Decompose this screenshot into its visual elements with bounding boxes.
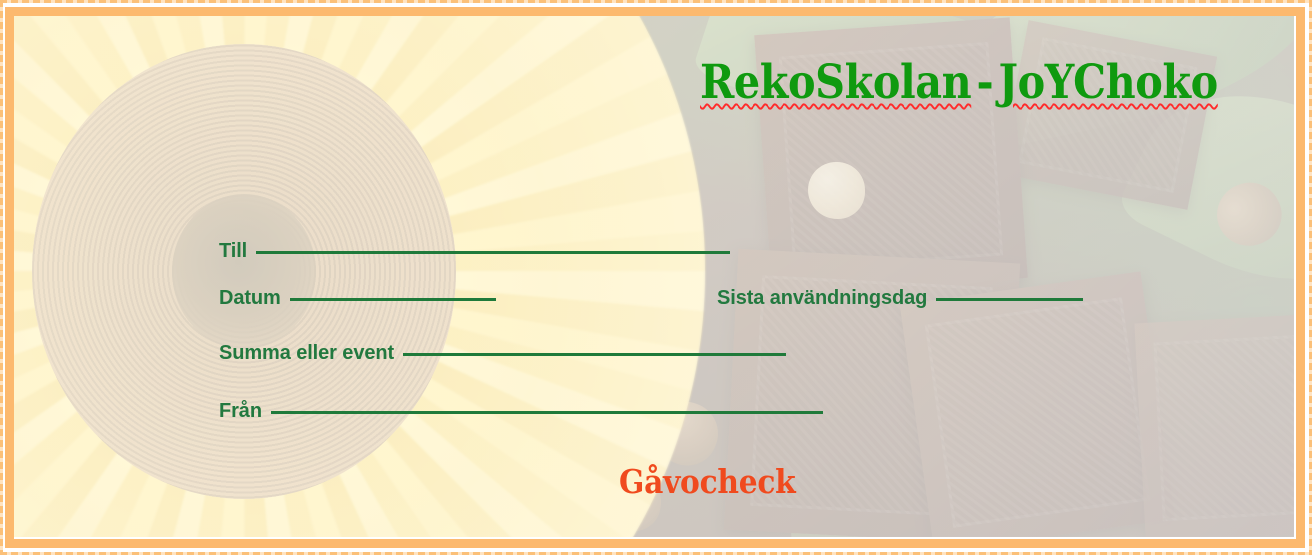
voucher-content: RekoSkolan-JoYChoko Till Datum Sista anv…	[0, 0, 1312, 555]
brand-name-first: RekoSkolan	[700, 55, 971, 110]
brand-name-second: JoYChoko	[999, 55, 1218, 110]
field-rule-till[interactable]	[256, 251, 730, 254]
field-label-summa-eller-event: Summa eller event	[219, 342, 394, 365]
field-label-till: Till	[219, 240, 247, 263]
field-rule-fran[interactable]	[271, 411, 823, 414]
field-label-fran: Från	[219, 400, 262, 423]
field-row-sista-anvandningsdag[interactable]: Sista användningsdag	[717, 287, 1083, 310]
field-row-summa-eller-event[interactable]: Summa eller event	[219, 342, 786, 365]
gift-voucher: RekoSkolan-JoYChoko Till Datum Sista anv…	[0, 0, 1312, 555]
field-row-fran[interactable]: Från	[219, 400, 823, 423]
field-row-till[interactable]: Till	[219, 240, 730, 263]
field-rule-sista-anvandningsdag[interactable]	[936, 298, 1083, 301]
field-rule-summa-eller-event[interactable]	[403, 353, 786, 356]
field-rule-datum[interactable]	[290, 298, 496, 301]
voucher-stamp-gavocheck: Gåvocheck	[619, 462, 795, 501]
brand-separator: -	[971, 55, 998, 110]
voucher-title: RekoSkolan-JoYChoko	[700, 58, 1218, 107]
field-label-sista-anvandningsdag: Sista användningsdag	[717, 287, 927, 310]
field-label-datum: Datum	[219, 287, 281, 310]
field-row-datum[interactable]: Datum	[219, 287, 496, 310]
